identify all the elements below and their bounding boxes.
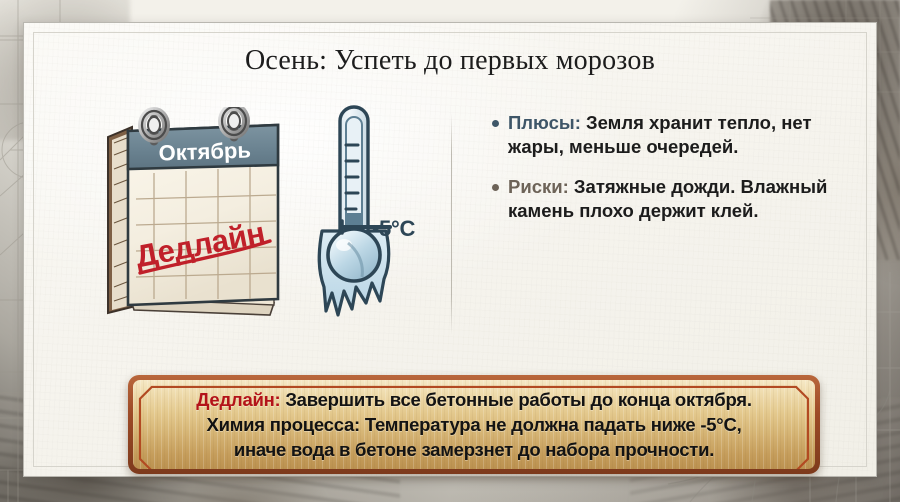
- slide-canvas: Осень: Успеть до первых морозов: [0, 0, 900, 502]
- plaque-face: Дедлайн: Завершить все бетонные работы д…: [133, 380, 815, 469]
- calendar-ring-left: [142, 111, 166, 141]
- slide-card: Осень: Успеть до первых морозов: [23, 22, 877, 477]
- page-title: Осень: Успеть до первых морозов: [24, 45, 876, 77]
- calendar-ring-right: [222, 107, 246, 137]
- list-item: Плюсы: Земля хранит тепло, нет жары, мен…: [492, 111, 862, 159]
- calendar-illustration: Октябрь Дедлайн: [92, 107, 292, 322]
- plaque-chemistry-text: Температура не должна падать ниже -5°C,: [360, 414, 742, 435]
- plaque-deadline-label: Дедлайн:: [196, 389, 280, 410]
- deadline-plaque: Дедлайн: Завершить все бетонные работы д…: [128, 375, 820, 474]
- calendar-month-label: Октябрь: [158, 137, 251, 165]
- content-divider: [451, 113, 452, 335]
- bullet-label: Плюсы:: [508, 112, 581, 133]
- thermometer-illustration: -5°C: [294, 103, 454, 323]
- plaque-line-3: иначе вода в бетоне замерзнет до набора …: [234, 437, 714, 462]
- plaque-line-2: Химия процесса: Температура не должна па…: [207, 412, 742, 437]
- bullet-dot-icon: [492, 120, 499, 127]
- content-row: Октябрь Дедлайн: [24, 101, 876, 351]
- thermometer-reading: -5°C: [372, 216, 415, 242]
- plaque-deadline-text: Завершить все бетонные работы до конца о…: [280, 389, 751, 410]
- bullet-text: Плюсы: Земля хранит тепло, нет жары, мен…: [508, 111, 862, 159]
- bullet-text: Риски: Затяжные дожди. Влажный камень пл…: [508, 175, 862, 223]
- plaque-text-block: Дедлайн: Завершить все бетонные работы д…: [133, 380, 815, 469]
- bullet-list: Плюсы: Земля хранит тепло, нет жары, мен…: [492, 111, 862, 239]
- bullet-label: Риски:: [508, 176, 569, 197]
- list-item: Риски: Затяжные дожди. Влажный камень пл…: [492, 175, 862, 223]
- plaque-line-1: Дедлайн: Завершить все бетонные работы д…: [196, 387, 751, 412]
- plaque-chemistry-label: Химия процесса:: [207, 414, 360, 435]
- bullet-dot-icon: [492, 184, 499, 191]
- illustration-column: Октябрь Дедлайн: [84, 101, 454, 341]
